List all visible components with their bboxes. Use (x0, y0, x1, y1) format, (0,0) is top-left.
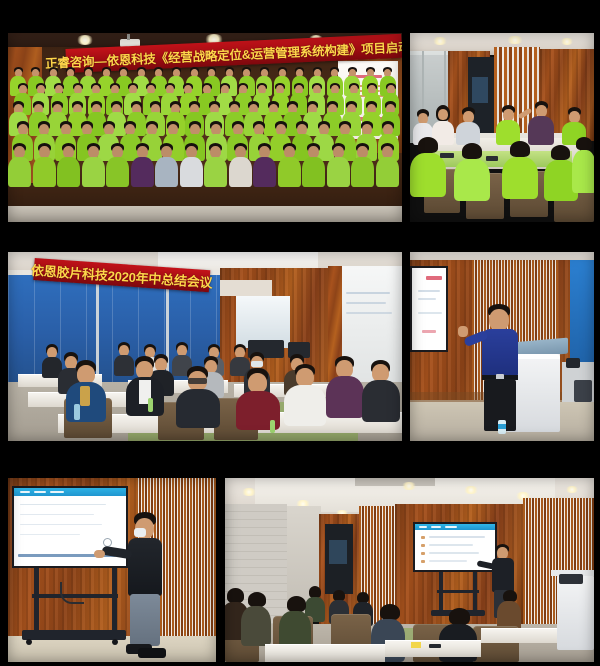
photo-1-attendee (33, 143, 56, 188)
photo-gallery: 正睿咨询—依恩科技《经营战略定位&运营管理系统构建》项目启动大 (0, 0, 600, 666)
photo-1-attendee (131, 143, 154, 188)
photo-1-attendee (351, 143, 374, 188)
photo-1-attendee (229, 143, 252, 188)
attendee-shirt (8, 157, 31, 187)
photo-4-speaker-at-podium[interactable] (410, 252, 594, 441)
attendee-shirt (327, 157, 350, 187)
attendee-shirt (204, 157, 227, 187)
photo-1-attendee (155, 143, 178, 188)
attendee-shirt (229, 157, 252, 187)
photo-5-whiteboard-presentation[interactable] (8, 478, 216, 662)
attendee-shirt (57, 157, 80, 187)
attendee-shirt (82, 157, 105, 187)
photo-1-attendee (82, 143, 105, 188)
attendee-shirt (33, 157, 56, 187)
photo-4-speaker (478, 304, 522, 432)
attendee-shirt (376, 157, 399, 187)
attendee-shirt (351, 157, 374, 187)
photo-3-midyear-review-audience[interactable]: 依恩胶片科技2020年中总结会议 (8, 252, 402, 441)
photo-6-seminar-room-wide[interactable] (225, 478, 594, 662)
attendee-shirt (253, 157, 276, 187)
photo-1-attendee (327, 143, 350, 188)
photo-4-wall-display (410, 266, 448, 352)
attendee-shirt (302, 157, 325, 187)
photo-1-attendee (278, 143, 301, 188)
photo-1-attendee (204, 143, 227, 188)
attendee-shirt (131, 157, 154, 187)
photo-5-presenter (126, 512, 166, 658)
photo-1-attendee (302, 143, 325, 188)
photo-1-attendee (180, 143, 203, 188)
photo-1-attendee (376, 143, 399, 188)
attendee-shirt (180, 157, 203, 187)
photo-2-conference-discussion[interactable] (410, 33, 594, 222)
attendee-shirt (106, 157, 129, 187)
photo-1-attendee (106, 143, 129, 188)
attendee-shirt (278, 157, 301, 187)
photo-1-attendee (253, 143, 276, 188)
photo-1-attendee (8, 143, 31, 188)
photo-1-group-kickoff[interactable]: 正睿咨询—依恩科技《经营战略定位&运营管理系统构建》项目启动大 (8, 33, 402, 222)
attendee-shirt (155, 157, 178, 187)
photo-1-attendee (57, 143, 80, 188)
